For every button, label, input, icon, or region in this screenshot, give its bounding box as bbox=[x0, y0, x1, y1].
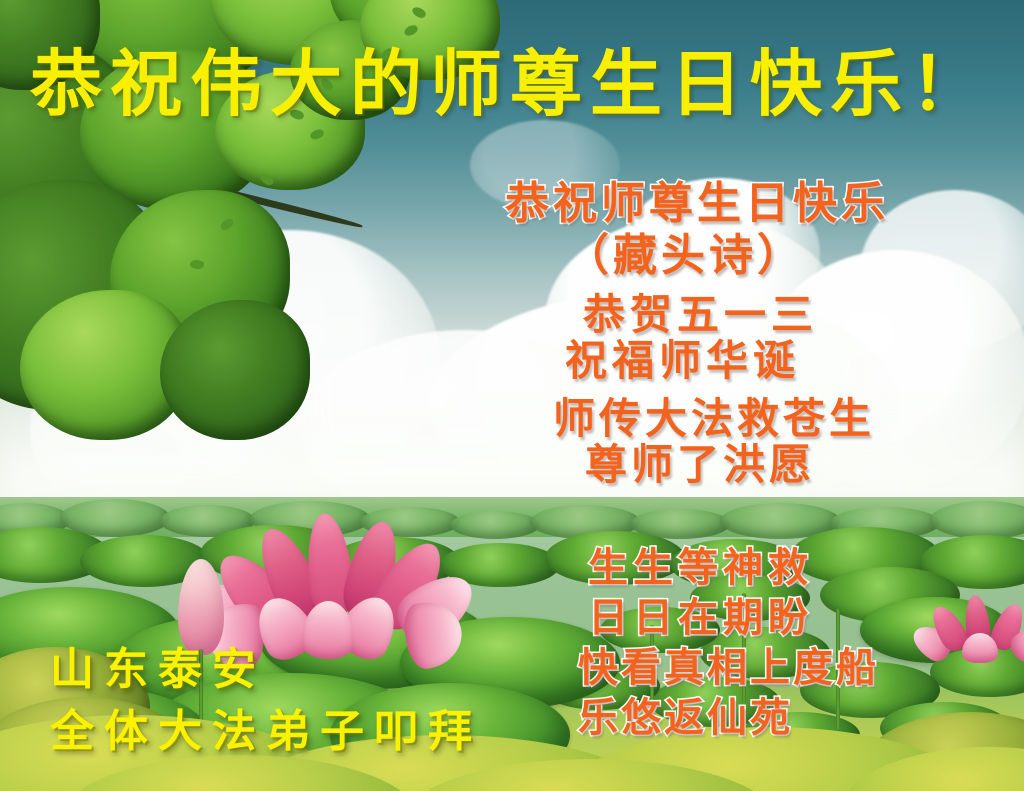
lotus-blossom-small bbox=[930, 593, 1024, 663]
poem-lower-line-4: 乐悠返仙苑 bbox=[578, 698, 793, 738]
page-title: 恭祝伟大的师尊生日快乐！ bbox=[30, 48, 990, 120]
poem-upper-line-4: 尊师了洪愿 bbox=[585, 444, 815, 486]
poem-lower-line-2: 日日在期盼 bbox=[588, 598, 813, 638]
poem-upper-line-2: 祝福师华诞 bbox=[565, 340, 800, 382]
poem-upper-line-1: 恭贺五一三 bbox=[583, 294, 818, 336]
signature-sender: 全体大法弟子叩拜 bbox=[50, 710, 482, 754]
signature-location: 山东泰安 bbox=[50, 648, 266, 692]
poem-heading-line-1: 恭祝师尊生日快乐 bbox=[505, 182, 889, 226]
poem-lower-line-3: 快看真相上度船 bbox=[578, 648, 879, 688]
poem-lower-line-1: 生生等神救 bbox=[588, 548, 813, 588]
lotus-blossom-main bbox=[225, 517, 435, 657]
greeting-card: 恭祝伟大的师尊生日快乐！ 恭祝师尊生日快乐 （藏头诗） 恭贺五一三 祝福师华诞 … bbox=[0, 0, 1024, 791]
poem-upper-line-3: 师传大法救苍生 bbox=[553, 398, 875, 440]
poem-heading-line-2: （藏头诗） bbox=[565, 234, 805, 278]
